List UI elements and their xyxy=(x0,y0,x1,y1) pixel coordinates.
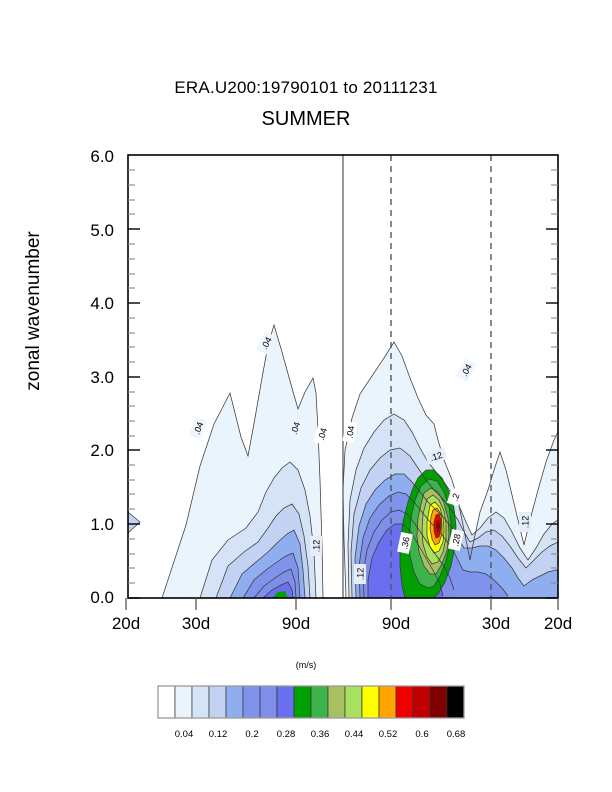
colorbar-cell xyxy=(209,686,226,718)
colorbar-cell xyxy=(277,686,294,718)
figure-canvas: ERA.U200:19790101 to 20111231 SUMMER zon… xyxy=(0,0,612,792)
colorbar-cell xyxy=(311,686,328,718)
colorbar-cell xyxy=(260,686,277,718)
contour-label: .04 xyxy=(344,425,356,439)
colorbar-cell xyxy=(294,686,311,718)
colorbar-cell xyxy=(413,686,430,718)
contour-label: .12 xyxy=(521,516,531,529)
contour-plot-svg: .04 .04 .04 .04 .04 .04 .12 .12 xyxy=(0,0,612,792)
colorbar-cell xyxy=(243,686,260,718)
colorbar-cell xyxy=(192,686,209,718)
contour-fill-group xyxy=(128,155,558,598)
contour-label: .12 xyxy=(312,540,322,553)
colorbar-cell xyxy=(430,686,447,718)
colorbar-cell xyxy=(379,686,396,718)
colorbar-cell xyxy=(328,686,345,718)
colorbar-cell xyxy=(362,686,379,718)
colorbar-cell xyxy=(447,686,464,718)
colorbar xyxy=(158,686,464,718)
contour-label: .12 xyxy=(356,568,366,581)
colorbar-cell xyxy=(175,686,192,718)
colorbar-cell xyxy=(345,686,362,718)
colorbar-cell xyxy=(226,686,243,718)
colorbar-cell xyxy=(158,686,175,718)
colorbar-cell xyxy=(396,686,413,718)
